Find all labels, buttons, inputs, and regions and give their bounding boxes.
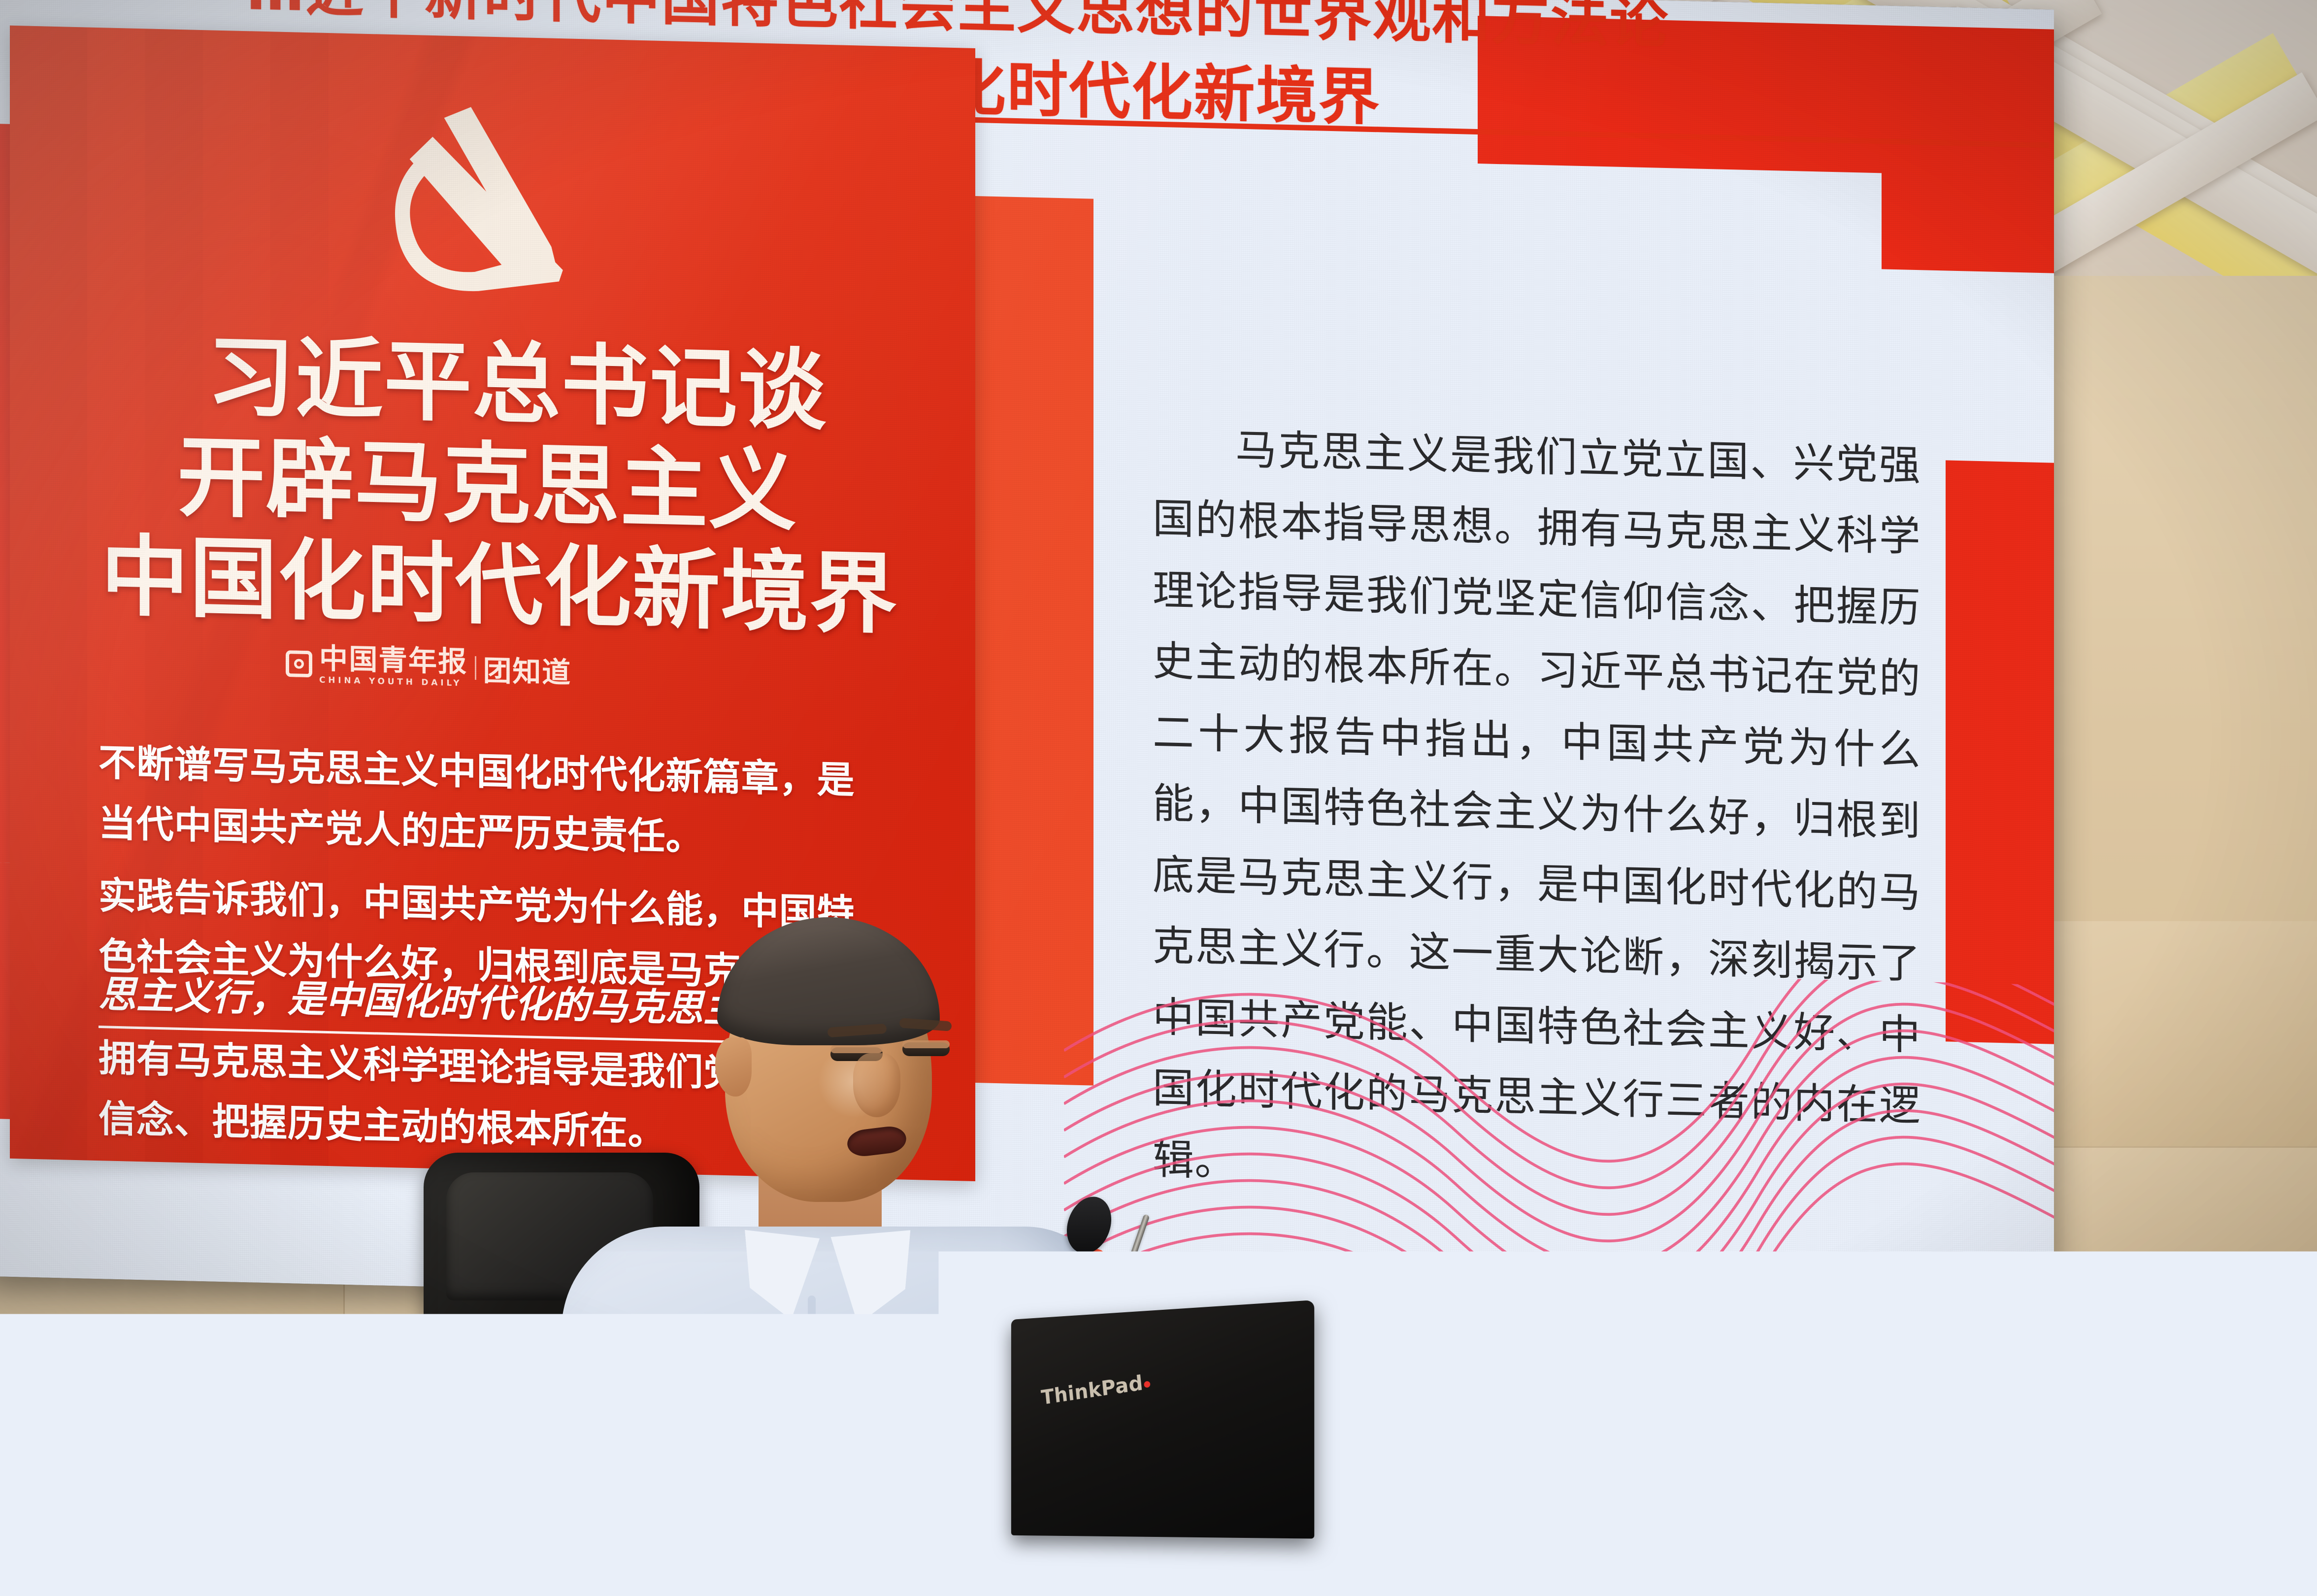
microphone-base bbox=[1320, 1444, 1443, 1507]
poster-headline-line-3: 中国化时代化新境界 bbox=[101, 505, 898, 651]
at-sign-logo-mark bbox=[286, 650, 312, 677]
china-youth-daily-logo: 中国青年报 CHINA YOUTH DAILY 团知道 bbox=[286, 643, 571, 691]
smartphone[interactable] bbox=[364, 1475, 508, 1554]
laptop[interactable]: ThinkPad bbox=[1011, 1300, 1314, 1539]
logo-divider bbox=[475, 656, 476, 680]
logo-secondary-name: 团知道 bbox=[483, 647, 571, 691]
ear bbox=[715, 1037, 752, 1097]
screenshot-root: …近平新时代中国特色社会主义思想的世界观和方法论 （一）开辟马克思主义中国化时代… bbox=[0, 0, 2317, 1596]
poster-body-paragraph-1: 不断谱写马克思主义中国化时代化新篇章，是当代中国共产党人的庄严历史责任。 bbox=[99, 732, 887, 872]
thinkpad-logo: ThinkPad bbox=[1040, 1369, 1152, 1409]
eyeglasses[interactable] bbox=[734, 1520, 857, 1554]
cpc-hammer-sickle-emblem bbox=[374, 93, 606, 305]
thinkpad-wordmark: ThinkPad bbox=[1040, 1371, 1144, 1409]
vacuum-thermos-flask[interactable] bbox=[889, 1325, 956, 1532]
slide-body-text-column: 马克思主义是我们立党立国、兴党强国的根本指导思想。拥有马克思主义科学理论指导是我… bbox=[1153, 412, 1921, 1213]
thinkpad-red-dot bbox=[1144, 1381, 1151, 1388]
slide-accent-block-right bbox=[1946, 460, 2054, 1045]
slide-body-paragraph: 马克思主义是我们立党立国、兴党强国的根本指导思想。拥有马克思主义科学理论指导是我… bbox=[1153, 412, 1921, 1213]
logo-chinese-name: 中国青年报 bbox=[319, 644, 468, 676]
